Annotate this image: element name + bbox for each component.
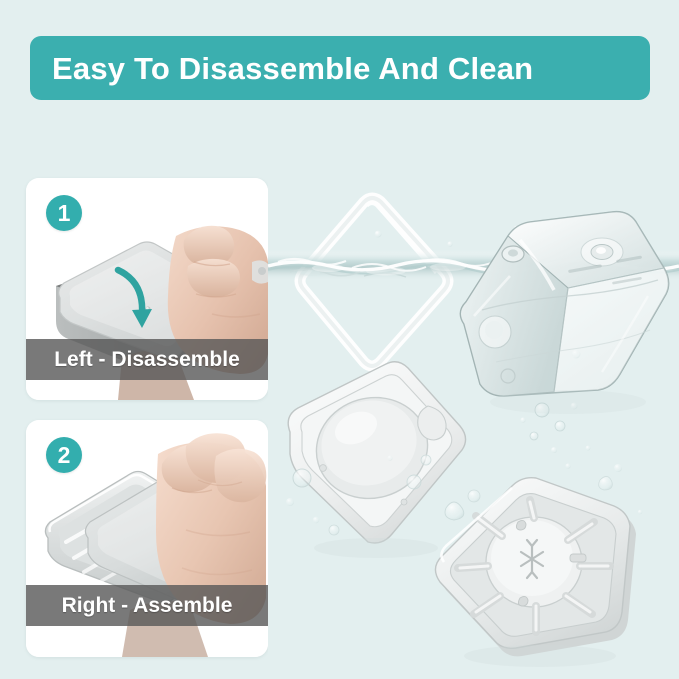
step-1-caption-text: Left - Disassemble xyxy=(54,349,240,370)
step-2-caption-bar: Right - Assemble xyxy=(26,585,268,626)
product-scene xyxy=(268,110,679,679)
step-card-assemble: 2 Right - Assemble xyxy=(26,420,268,657)
step-1-caption-bar: Left - Disassemble xyxy=(26,339,268,380)
step-number-badge-1: 1 xyxy=(46,195,82,231)
step-card-disassemble: 1 Left - Disassemble xyxy=(26,178,268,400)
infographic-canvas: Easy To Disassemble And Clean xyxy=(0,0,679,679)
step-2-caption-text: Right - Assemble xyxy=(62,595,233,616)
latch-clip xyxy=(502,246,524,262)
product-scene-illustration xyxy=(268,110,679,679)
step-number-badge-2: 2 xyxy=(46,437,82,473)
header-banner: Easy To Disassemble And Clean xyxy=(30,36,650,100)
side-boss xyxy=(479,316,511,348)
page-title: Easy To Disassemble And Clean xyxy=(52,53,533,84)
